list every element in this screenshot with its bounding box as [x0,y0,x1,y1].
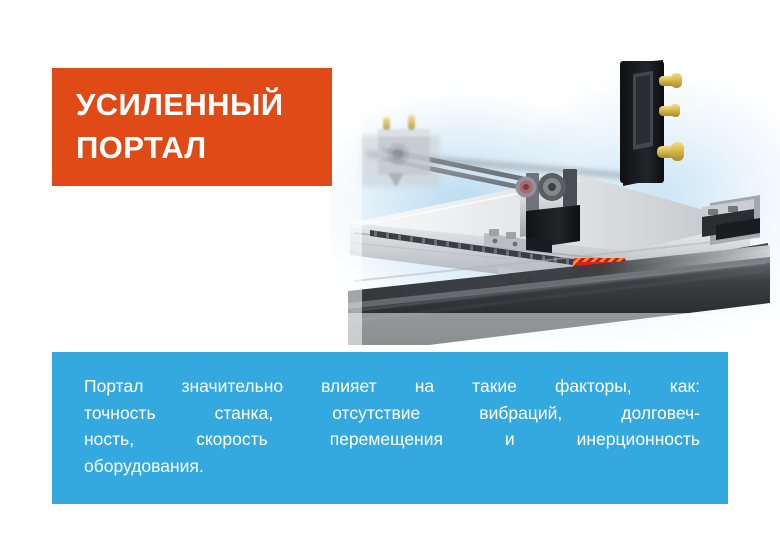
description-line-4: оборудования. [84,453,700,480]
headline-line-1: УСИЛЕННЫЙ [76,84,332,127]
description-text: Портал значительно влияет на такие факто… [84,373,700,479]
tool-head-group [623,60,684,186]
description-line-1: Портал значительно влияет на такие факто… [84,373,700,400]
product-photo: Толщина 5мм [330,55,780,345]
description-line-3: ность, скорость перемещения и инерционно… [84,426,700,453]
description-line-2: точность станка, отсутствие вибраций, до… [84,400,700,427]
headline-line-2: ПОРТАЛ [76,127,332,170]
cnc-gantry-illustration: Толщина 5мм [330,55,780,345]
description-panel: Портал значительно влияет на такие факто… [52,352,728,504]
slide-root: Толщина 5мм [0,0,780,541]
headline-banner: УСИЛЕННЫЙ ПОРТАЛ [52,68,332,186]
